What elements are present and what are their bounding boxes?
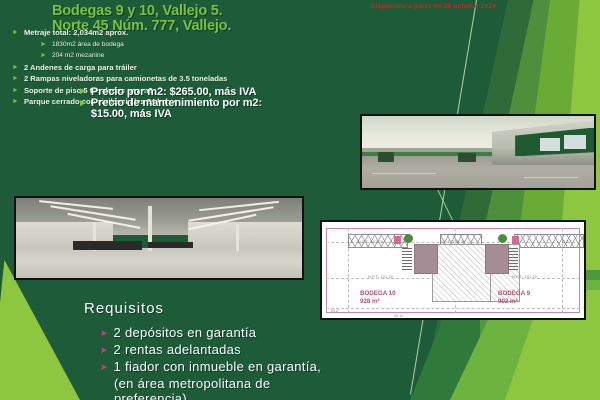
requirement-arrow-icon: ➤ bbox=[100, 359, 108, 375]
feature-item: ►Metraje total: 2,034m2 aprox. bbox=[10, 28, 390, 38]
plan-bodega10-name: BODEGA 10 bbox=[360, 290, 396, 298]
plan-block-right bbox=[485, 244, 509, 274]
plan-gridline-h3 bbox=[326, 308, 580, 309]
photo-mezzanine-dark-1 bbox=[73, 241, 142, 250]
plan-bodega9-name: BODEGA 9 bbox=[498, 290, 530, 298]
bullet-arrow-icon: ► bbox=[12, 74, 19, 84]
price-row-maintenance: ► Precio de mantenimiento por m2: $15.00… bbox=[78, 98, 262, 120]
plan-level-left: N.P.T. 101.20 bbox=[368, 275, 393, 279]
price-block: ► Precio por m2: $265.00, más IVA ► Prec… bbox=[78, 86, 262, 120]
feature-item: ►1830m2 área de bodega bbox=[38, 40, 390, 50]
requirement-item: ➤2 depósitos en garantía bbox=[100, 325, 500, 341]
plan-dimension-bottom: 25.10 bbox=[394, 314, 404, 318]
warehouse-interior-photo bbox=[14, 196, 304, 280]
requirement-label: 2 depósitos en garantía bbox=[114, 325, 257, 341]
arrow-marker-icon: ► bbox=[78, 98, 88, 110]
floor-plan-drawing: N.P.T. 101.20 N.P.T. 100.20 N.P.T. N.P.T… bbox=[320, 220, 586, 320]
photo-column-right bbox=[236, 224, 239, 251]
bullet-arrow-icon: ► bbox=[12, 86, 19, 96]
availability-note: Disponible a partir de 28 octubre 2024 bbox=[371, 3, 496, 10]
requirement-item: ➤2 rentas adelantadas bbox=[100, 342, 500, 358]
plan-pink-marker-2 bbox=[512, 236, 519, 244]
plan-level-right: N.P.T. 101.20 bbox=[512, 275, 537, 279]
feature-item-label: 1830m2 área de bodega bbox=[52, 40, 124, 50]
requirements-list: ➤2 depósitos en garantía➤2 rentas adelan… bbox=[100, 325, 500, 400]
photo-window-2 bbox=[564, 135, 586, 149]
photo-window-1 bbox=[540, 138, 560, 151]
plan-block-left bbox=[414, 244, 438, 274]
warehouse-exterior-photo bbox=[360, 114, 596, 190]
plan-bodega10-area: 928 m² bbox=[360, 298, 396, 306]
bullet-arrow-icon: ► bbox=[40, 51, 47, 61]
requirement-arrow-icon: ➤ bbox=[100, 325, 108, 341]
plan-pink-marker-1 bbox=[394, 236, 401, 244]
feature-item-label: Metraje total: 2,034m2 aprox. bbox=[24, 28, 128, 38]
plan-label-bodega-9: BODEGA 9 902 m² bbox=[498, 290, 530, 305]
requirement-arrow-icon: ➤ bbox=[100, 342, 108, 358]
price-maintenance-line2: $15.00, más IVA bbox=[91, 109, 262, 120]
requirement-continuation: preferencia) bbox=[114, 391, 500, 400]
feature-item-label: 2 Rampas niveladoras para camionetas de … bbox=[24, 74, 227, 84]
plan-dimension-left: 59.8" bbox=[331, 309, 340, 313]
requirement-continuation: (en área metropolitana de bbox=[114, 376, 500, 391]
plan-hatched-corridor-1 bbox=[432, 244, 492, 302]
price-maintenance-wrap: Precio de mantenimiento por m2: $15.00, … bbox=[91, 98, 262, 120]
photo-truck-mid bbox=[458, 153, 476, 162]
plan-label-bodega-10: BODEGA 10 928 m² bbox=[360, 290, 396, 305]
photo-lane-marking-2 bbox=[524, 177, 578, 178]
photo-mezzanine-dark-2 bbox=[148, 242, 194, 248]
feature-item: ►204 m2 mezanine bbox=[38, 51, 390, 61]
bullet-arrow-icon: ► bbox=[40, 40, 47, 50]
plan-level-top-left: N.P.T. 101.20 bbox=[358, 240, 383, 244]
feature-item: ►2 Rampas niveladoras para camionetas de… bbox=[10, 74, 390, 84]
requirement-label: 1 fiador con inmueble en garantía, bbox=[114, 359, 322, 375]
plan-bodega9-area: 902 m² bbox=[498, 298, 530, 306]
title-line-1: Bodegas 9 y 10, Vallejo 5. bbox=[52, 4, 382, 19]
arrow-marker-icon: ► bbox=[78, 86, 88, 98]
feature-item: ►2 Andenes de carga para tráiler bbox=[10, 63, 390, 73]
bottom-left-wedge bbox=[0, 260, 80, 400]
plan-tree-icon-1 bbox=[404, 234, 413, 243]
requirement-label: 2 rentas adelantadas bbox=[114, 342, 241, 358]
photo-truck-left bbox=[378, 152, 394, 162]
feature-item-label: 2 Andenes de carga para tráiler bbox=[24, 63, 137, 73]
requirements-heading: Requisitos bbox=[84, 300, 164, 317]
plan-hatch-left bbox=[402, 246, 412, 270]
plan-level-top-right: N.P.T. bbox=[562, 240, 573, 244]
bullet-arrow-icon: ► bbox=[12, 97, 19, 107]
photo-lane-marking-1 bbox=[372, 173, 436, 174]
bullet-arrow-icon: ► bbox=[12, 28, 19, 38]
feature-item-label: 204 m2 mezanine bbox=[52, 51, 104, 61]
photo-floor bbox=[16, 248, 302, 278]
plan-tree-icon-2 bbox=[498, 234, 507, 243]
plan-level-top-mid: N.P.T. 100.20 bbox=[440, 240, 465, 244]
bullet-arrow-icon: ► bbox=[12, 63, 19, 73]
requirement-item: ➤ 1 fiador con inmueble en garantía, bbox=[100, 359, 500, 375]
slide-canvas: Disponible a partir de 28 octubre 2024 B… bbox=[0, 0, 600, 400]
plan-hatch-right bbox=[508, 246, 518, 270]
plan-truss-right bbox=[514, 234, 584, 248]
